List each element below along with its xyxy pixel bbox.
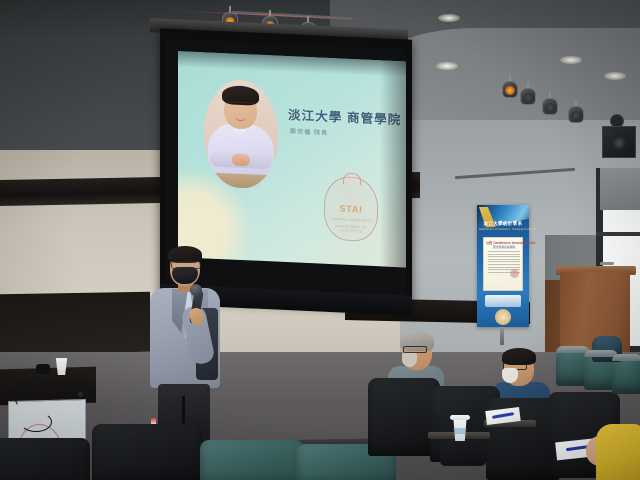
banner-poster-card: 公告 Conference Announcement 研討會報名與徵稿	[483, 237, 523, 291]
auditorium-seat[interactable]	[92, 424, 202, 480]
recessed-downlight	[604, 72, 626, 80]
coffee-cup-lid	[450, 415, 470, 420]
banner-stand-pole	[500, 327, 504, 345]
eyeglasses-icon	[403, 346, 427, 353]
banner-sponsor-logo	[485, 295, 521, 307]
whiteboard-clip	[78, 392, 83, 397]
slide-portrait-photo	[204, 78, 278, 189]
slide-footer-line-1: ‧ ‧ ‧ ‧ ‧ ‧ ‧ ‧ ‧ ‧ ‧ ‧ ‧ ‧ ‧	[220, 231, 327, 240]
ledge-equipment-box	[36, 364, 50, 374]
roll-up-banner: 淡江大學統計學系 Department of Statistics, Tamka…	[477, 205, 529, 327]
banner-title: 淡江大學統計學系	[481, 221, 525, 227]
seat-headrest-cap	[612, 354, 640, 361]
wall-dark-band-lower	[0, 292, 150, 355]
banner-card-seal-icon	[510, 269, 519, 278]
recessed-downlight	[436, 62, 458, 70]
window-mullion	[596, 232, 640, 236]
bag-on-seat	[440, 440, 486, 466]
crest-subtext-2: DEPARTMENT OF STATISTICS	[325, 224, 377, 234]
slide-top-shadow	[178, 51, 406, 77]
wall-speaker-icon	[602, 126, 636, 158]
coffee-cup-band	[452, 428, 468, 434]
face-mask-icon	[402, 352, 417, 367]
recessed-downlight	[560, 56, 582, 64]
hanging-cable-2	[20, 412, 52, 432]
podium-microphone-icon	[600, 262, 614, 265]
banner-subtitle: Department of Statistics, Tamkang Univer…	[479, 228, 527, 231]
attendee-foreground-yellow	[596, 424, 640, 480]
auditorium-seat[interactable]	[0, 438, 90, 480]
recessed-downlight	[438, 14, 460, 22]
presenter-speaker	[146, 246, 224, 446]
presentation-slide: 淡江大學 商管學院 鄭宗儀 院長 STAI TAMKANG UNIVERSITY…	[178, 51, 406, 267]
banner-crest-icon	[495, 309, 511, 325]
slide-footer-line-2: ‧ ‧ ‧ ‧ ‧ ‧ ‧ ‧ ‧ ‧ ‧ ‧	[214, 241, 299, 249]
lecture-hall-photo: 淡江大學 商管學院 鄭宗儀 院長 STAI TAMKANG UNIVERSITY…	[0, 0, 640, 480]
auditorium-seat[interactable]	[200, 440, 304, 480]
banner-card-subheading: 研討會報名與徵稿	[486, 245, 522, 249]
slide-edge-shadow	[380, 60, 406, 267]
window-roller-blind[interactable]	[600, 168, 640, 210]
crest-subtext: TAMKANG UNIVERSITY	[325, 217, 377, 223]
crest-text: STAI	[325, 203, 377, 215]
university-crest-logo: STAI TAMKANG UNIVERSITY DEPARTMENT OF ST…	[324, 176, 378, 242]
